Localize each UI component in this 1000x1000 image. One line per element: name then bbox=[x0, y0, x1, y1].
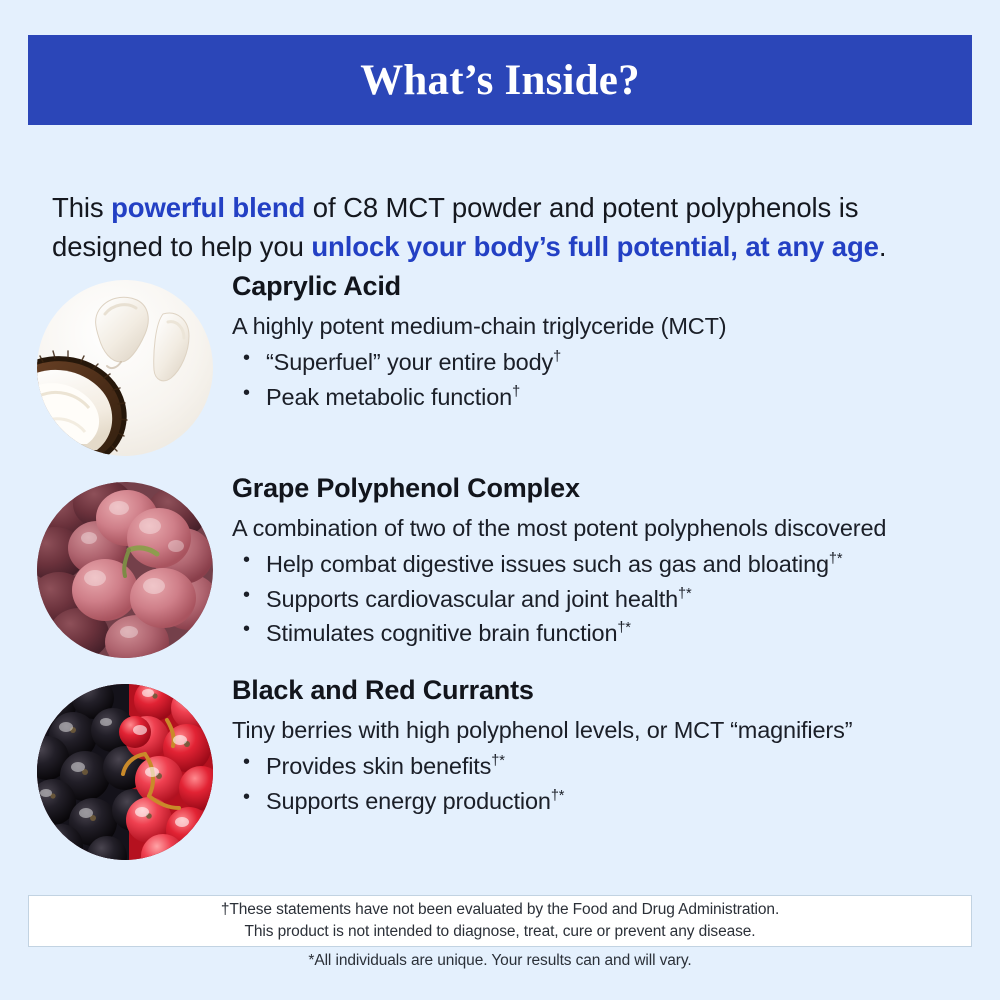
results-footnote: *All individuals are unique. Your result… bbox=[0, 952, 1000, 970]
list-item: “Superfuel” your entire body† bbox=[232, 345, 982, 380]
intro-paragraph: This powerful blend of C8 MCT powder and… bbox=[52, 188, 952, 266]
list-item: Supports cardiovascular and joint health… bbox=[232, 582, 982, 617]
ingredient-text: Black and Red Currants Tiny berries with… bbox=[232, 676, 1000, 818]
ingredient-benefits: Help combat digestive issues such as gas… bbox=[232, 547, 982, 651]
list-item: Help combat digestive issues such as gas… bbox=[232, 547, 982, 582]
benefit-text: Provides skin benefits bbox=[266, 753, 491, 779]
grapes-photo bbox=[37, 482, 213, 658]
page-title: What’s Inside? bbox=[360, 59, 640, 102]
intro-highlight-1: powerful blend bbox=[111, 192, 305, 223]
list-item: Peak metabolic function† bbox=[232, 380, 982, 415]
benefit-text: “Superfuel” your entire body bbox=[266, 349, 553, 375]
ingredient-text: Caprylic Acid A highly potent medium-cha… bbox=[232, 272, 1000, 414]
footnote-marker: †* bbox=[491, 753, 504, 769]
currants-photo bbox=[37, 684, 213, 860]
ingredient-benefits: “Superfuel” your entire body† Peak metab… bbox=[232, 345, 982, 415]
coconut-photo bbox=[37, 280, 213, 456]
benefit-text: Stimulates cognitive brain function bbox=[266, 620, 617, 646]
footnote-marker: † bbox=[512, 384, 520, 400]
ingredient-item: Black and Red Currants Tiny berries with… bbox=[0, 676, 1000, 856]
ingredient-text: Grape Polyphenol Complex A combination o… bbox=[232, 474, 1000, 651]
ingredient-item: Caprylic Acid A highly potent medium-cha… bbox=[0, 272, 1000, 452]
footnote-marker: †* bbox=[678, 586, 691, 602]
footnote-marker: † bbox=[553, 349, 561, 365]
disclaimer-line-2: This product is not intended to diagnose… bbox=[245, 921, 756, 943]
ingredient-title: Grape Polyphenol Complex bbox=[232, 474, 982, 504]
benefit-text: Help combat digestive issues such as gas… bbox=[266, 551, 829, 577]
footnote-marker: †* bbox=[551, 788, 564, 804]
benefit-text: Supports cardiovascular and joint health bbox=[266, 586, 678, 612]
benefit-text: Supports energy production bbox=[266, 788, 551, 814]
ingredient-list: Caprylic Acid A highly potent medium-cha… bbox=[0, 272, 1000, 878]
intro-text-part-1: This bbox=[52, 192, 111, 223]
ingredient-title: Black and Red Currants bbox=[232, 676, 982, 706]
list-item: Stimulates cognitive brain function†* bbox=[232, 616, 982, 651]
ingredient-benefits: Provides skin benefits†* Supports energy… bbox=[232, 749, 982, 819]
ingredient-description: A combination of two of the most potent … bbox=[232, 513, 982, 543]
disclaimer-line-1: †These statements have not been evaluate… bbox=[221, 899, 779, 921]
ingredient-item: Grape Polyphenol Complex A combination o… bbox=[0, 474, 1000, 654]
benefit-text: Peak metabolic function bbox=[266, 384, 512, 410]
intro-text-part-3: . bbox=[879, 231, 887, 262]
list-item: Provides skin benefits†* bbox=[232, 749, 982, 784]
footnote-marker: †* bbox=[829, 551, 842, 567]
list-item: Supports energy production†* bbox=[232, 784, 982, 819]
footnote-marker: †* bbox=[617, 620, 630, 636]
intro-highlight-2: unlock your body’s full potential, at an… bbox=[311, 231, 878, 262]
ingredient-title: Caprylic Acid bbox=[232, 272, 982, 302]
ingredient-description: Tiny berries with high polyphenol levels… bbox=[232, 715, 982, 745]
fda-disclaimer-box: †These statements have not been evaluate… bbox=[28, 895, 972, 947]
ingredient-description: A highly potent medium-chain triglycerid… bbox=[232, 311, 982, 341]
header-banner: What’s Inside? bbox=[28, 35, 972, 125]
